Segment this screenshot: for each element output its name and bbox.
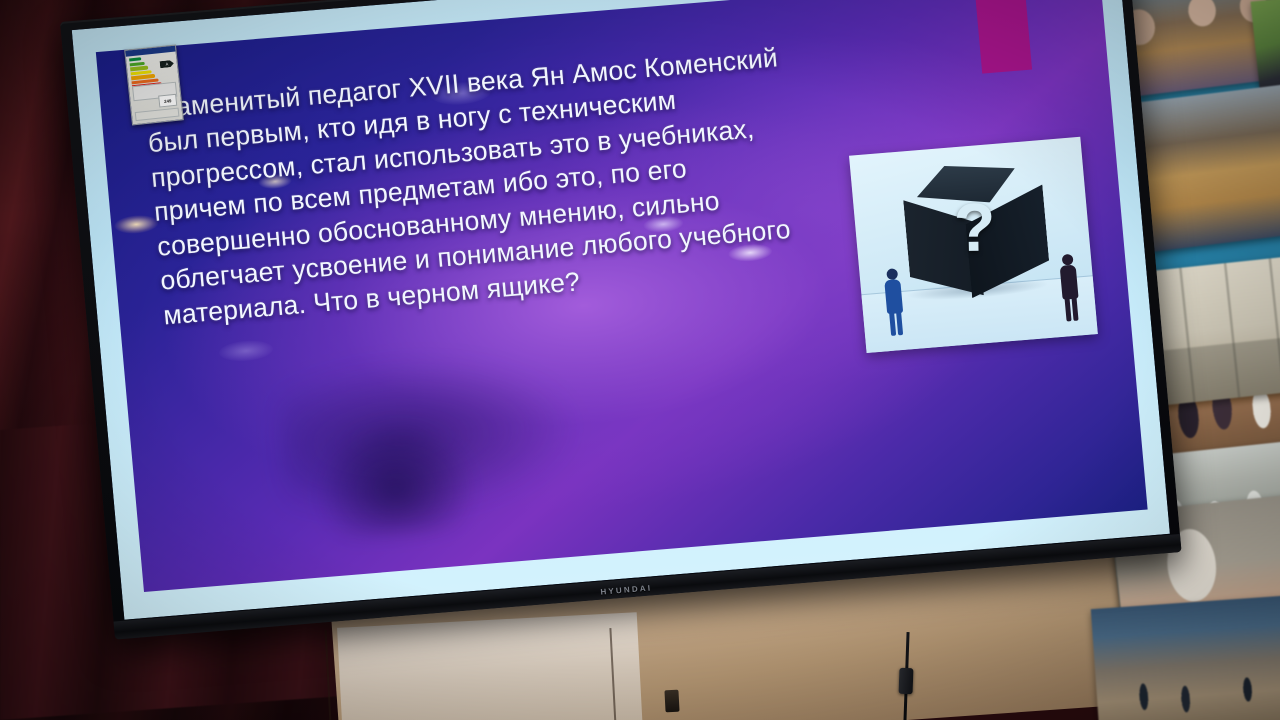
slide-body-text: Знаменитый педагог XVII века Ян Амос Ком… xyxy=(144,38,823,332)
question-mark-icon: ? xyxy=(953,194,996,262)
photo-corridor xyxy=(1091,591,1280,720)
presentation-slide: Знаменитый педагог XVII века Ян Амос Ком… xyxy=(72,0,1170,620)
slide-shadow-secondary xyxy=(310,418,479,541)
tv-screen[interactable]: Знаменитый педагог XVII века Ян Амос Ком… xyxy=(72,0,1170,620)
energy-grade-badge: A xyxy=(160,60,175,68)
energy-consumption-value: 249 xyxy=(158,94,177,108)
light-glare-6 xyxy=(218,339,274,363)
black-box-illustration: ? xyxy=(849,137,1098,353)
cable-ferrite-core xyxy=(899,668,914,694)
light-glare-1 xyxy=(114,214,159,236)
slide-accent-rectangle xyxy=(974,0,1032,74)
tv-body: HYUNDAI Знаменитый педагог XVII века Я xyxy=(60,0,1182,640)
television[interactable]: HYUNDAI Знаменитый педагог XVII века Я xyxy=(60,0,1182,640)
energy-label-footer xyxy=(135,108,180,122)
energy-efficiency-label: A 249 xyxy=(124,44,184,125)
slide-canvas: Знаменитый педагог XVII века Ян Амос Ком… xyxy=(96,0,1148,592)
screenshot-root: HYUNDAI Знаменитый педагог XVII века Я xyxy=(0,0,1280,720)
wall-socket xyxy=(664,690,679,713)
wall-panel-lower-left xyxy=(337,612,643,720)
